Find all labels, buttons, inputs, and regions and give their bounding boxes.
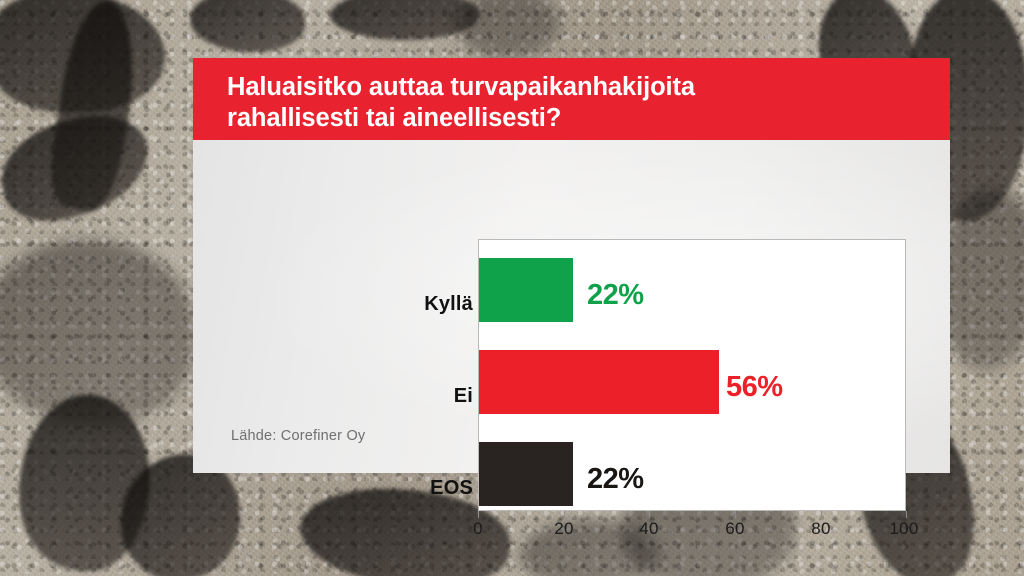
bar-ei (479, 350, 719, 414)
value-label-eos: 22% (587, 463, 644, 496)
x-tick-mark-40 (649, 511, 650, 518)
x-tick-label-80: 80 (811, 519, 831, 539)
bar-kylla (479, 258, 573, 322)
x-tick-label-40: 40 (639, 519, 659, 539)
card-header: Haluaisitko auttaa turvapaikanhakijoita … (193, 58, 950, 140)
bar-eos (479, 442, 573, 506)
x-tick-mark-80 (821, 511, 822, 518)
category-label-eos: EOS (293, 477, 473, 500)
x-tick-mark-100 (906, 511, 907, 518)
card-body: Kyllä Ei EOS 22% 56% 22% (193, 140, 950, 473)
x-tick-label-20: 20 (554, 519, 574, 539)
bars-container (479, 240, 905, 510)
source-note: Lähde: Corefiner Oy (231, 428, 365, 444)
value-label-kylla: 22% (587, 279, 644, 312)
x-axis: 0 20 40 60 80 100 (478, 511, 908, 551)
page-title: Haluaisitko auttaa turvapaikanhakijoita … (227, 72, 950, 134)
value-label-ei: 56% (726, 371, 783, 404)
x-tick-mark-20 (564, 511, 565, 518)
x-tick-label-100: 100 (889, 519, 918, 539)
bar-chart: Kyllä Ei EOS 22% 56% 22% (193, 140, 950, 473)
x-tick-label-0: 0 (473, 519, 483, 539)
category-label-kylla: Kyllä (293, 293, 473, 316)
x-tick-mark-0 (478, 511, 479, 518)
chart-plot-area (478, 239, 906, 511)
x-tick-label-60: 60 (725, 519, 745, 539)
category-label-ei: Ei (293, 385, 473, 408)
x-tick-mark-60 (735, 511, 736, 518)
poll-result-graphic-card: Haluaisitko auttaa turvapaikanhakijoita … (193, 58, 950, 473)
